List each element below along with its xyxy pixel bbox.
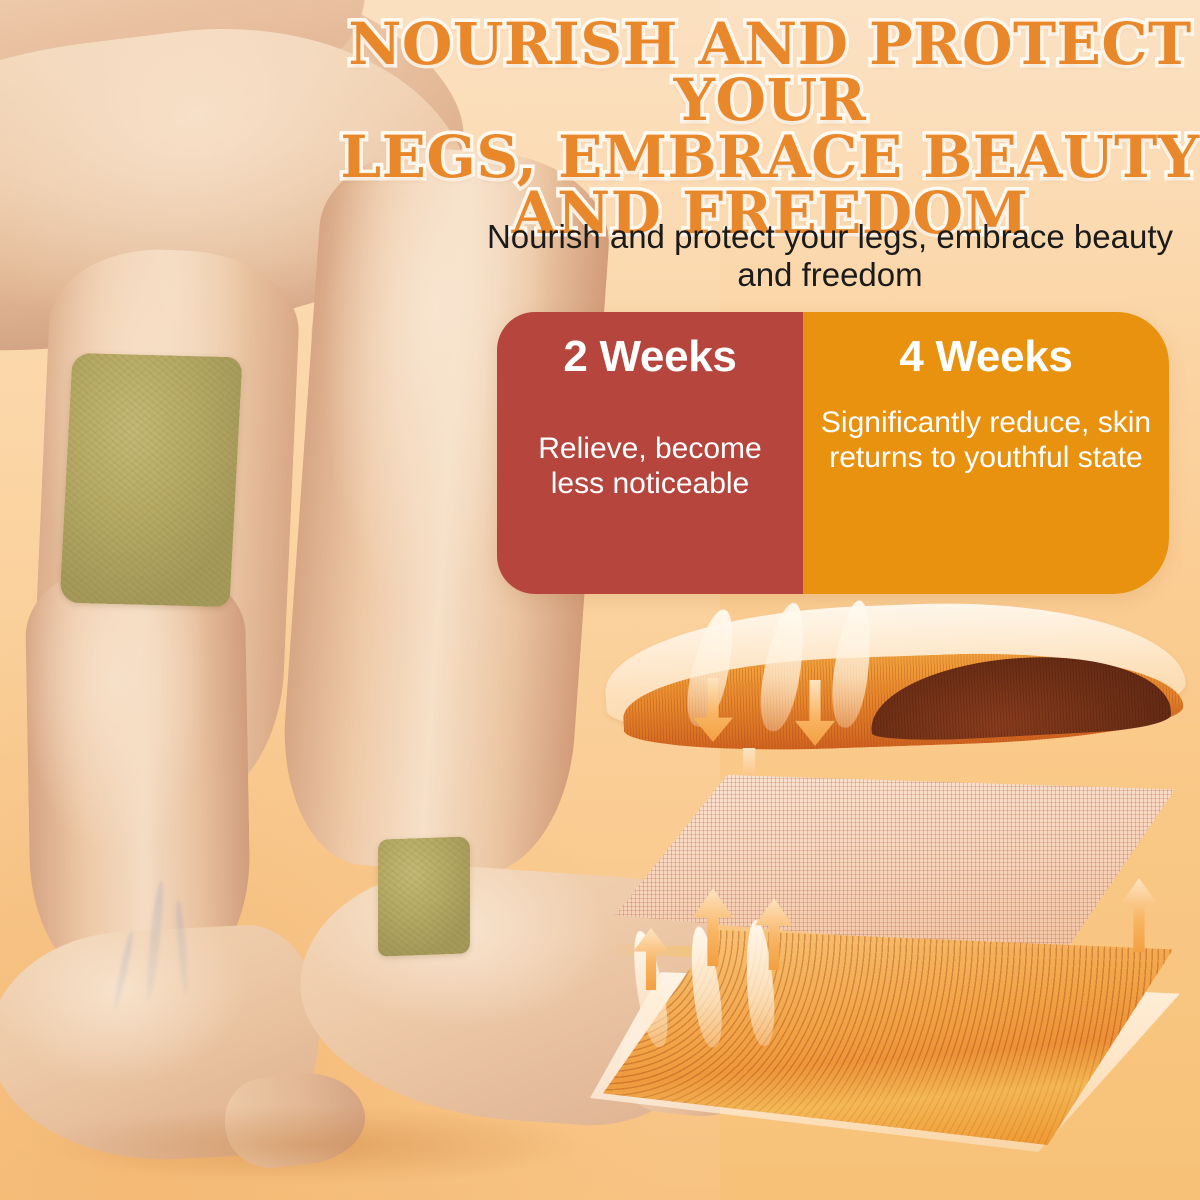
patch-layer-diagram [595, 600, 1200, 1125]
back-leg-calf [24, 558, 251, 982]
timeline-comparison-card: 2 Weeks Relieve, become less noticeable … [497, 312, 1169, 594]
panel-4-weeks: 4 Weeks Significantly reduce, skin retur… [803, 312, 1169, 594]
panel-2-weeks-title: 2 Weeks [513, 334, 787, 380]
page-title: NOURISH AND PROTECT YOUR LEGS, EMBRACE B… [330, 16, 1200, 241]
thigh-patch [59, 353, 242, 607]
panel-4-weeks-title: 4 Weeks [819, 334, 1153, 380]
subtitle: Nourish and protect your legs, embrace b… [470, 218, 1190, 295]
advertisement-canvas: NOURISH AND PROTECT YOUR LEGS, EMBRACE B… [0, 0, 1200, 1200]
patch-edge-glow [603, 930, 1173, 1145]
heat-arrow-up [1119, 878, 1159, 952]
panel-2-weeks-body: Relieve, become less noticeable [513, 432, 787, 502]
panel-4-weeks-body: Significantly reduce, skin returns to yo… [819, 406, 1153, 476]
panel-2-weeks: 2 Weeks Relieve, become less noticeable [497, 312, 803, 594]
ankle-patch [378, 836, 470, 956]
